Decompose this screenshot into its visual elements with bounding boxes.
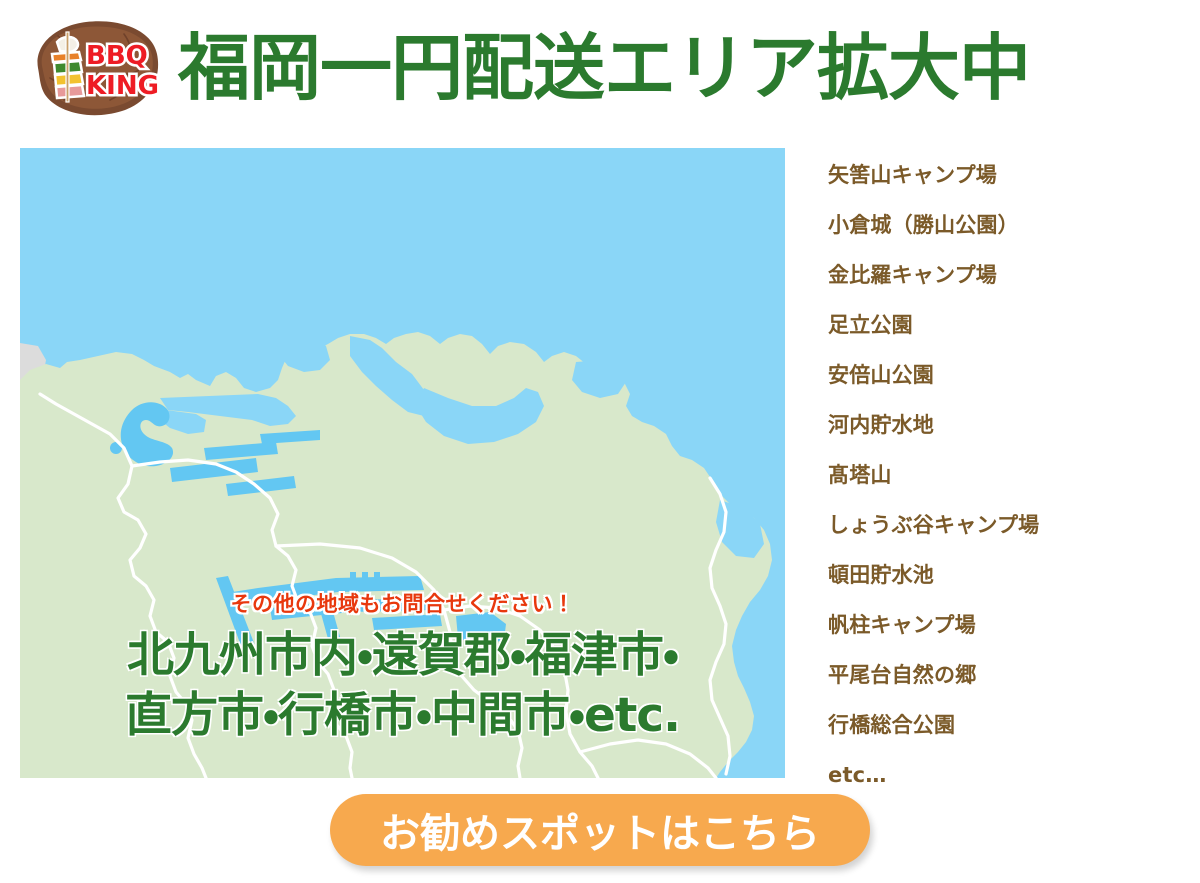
- bbq-king-logo: BBQ KING: [24, 16, 164, 120]
- list-item: etc…: [828, 750, 1178, 800]
- promo-banner: BBQ KING 福岡一円配送エリア拡大中: [0, 0, 1200, 883]
- list-item: 金比羅キャンプ場: [828, 250, 1178, 300]
- list-item: 小倉城（勝山公園）: [828, 200, 1178, 250]
- list-item: 平尾台自然の郷: [828, 650, 1178, 700]
- logo-brand-line1: BBQ: [86, 41, 148, 71]
- list-item: 頓田貯水池: [828, 550, 1178, 600]
- list-item: 髙塔山: [828, 450, 1178, 500]
- list-item: 足立公園: [828, 300, 1178, 350]
- list-item: 帆柱キャンプ場: [828, 600, 1178, 650]
- page-title: 福岡一円配送エリア拡大中: [178, 32, 1030, 104]
- map-graphic: [20, 148, 785, 778]
- list-item: 安倍山公園: [828, 350, 1178, 400]
- list-item: 行橋総合公園: [828, 700, 1178, 750]
- list-item: 矢筈山キャンプ場: [828, 150, 1178, 200]
- recommended-spot-list: 矢筈山キャンプ場 小倉城（勝山公園） 金比羅キャンプ場 足立公園 安倍山公園 河…: [828, 150, 1178, 800]
- delivery-area-map: [20, 148, 785, 778]
- list-item: しょうぶ谷キャンプ場: [828, 500, 1178, 550]
- list-item: 河内貯水地: [828, 400, 1178, 450]
- recommended-spots-button[interactable]: お勧めスポットはこちら: [330, 794, 870, 866]
- header: BBQ KING 福岡一円配送エリア拡大中: [0, 0, 1200, 136]
- logo-brand-line2: KING: [86, 71, 159, 101]
